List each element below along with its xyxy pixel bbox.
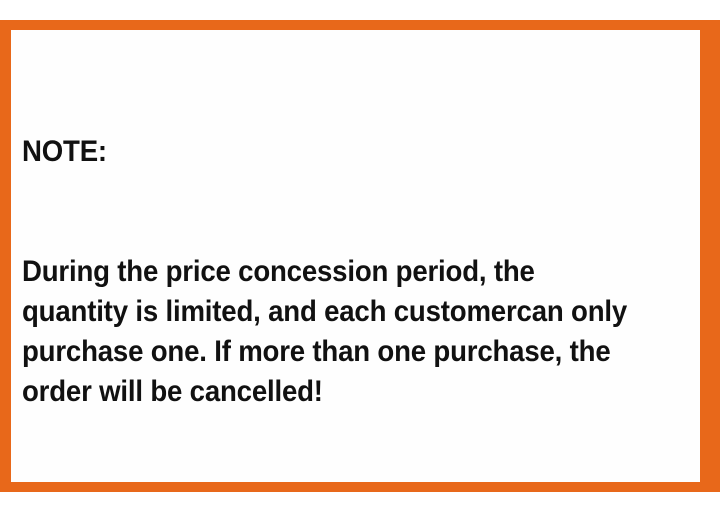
note-heading-body: During the price concession period, the … <box>22 252 633 412</box>
note-heading: NOTE: During the price concession period… <box>22 52 633 482</box>
note-label: NOTE: <box>22 132 633 172</box>
orange-border-frame: NOTE: During the price concession period… <box>0 20 720 492</box>
notice-panel: NOTE: During the price concession period… <box>11 30 700 482</box>
